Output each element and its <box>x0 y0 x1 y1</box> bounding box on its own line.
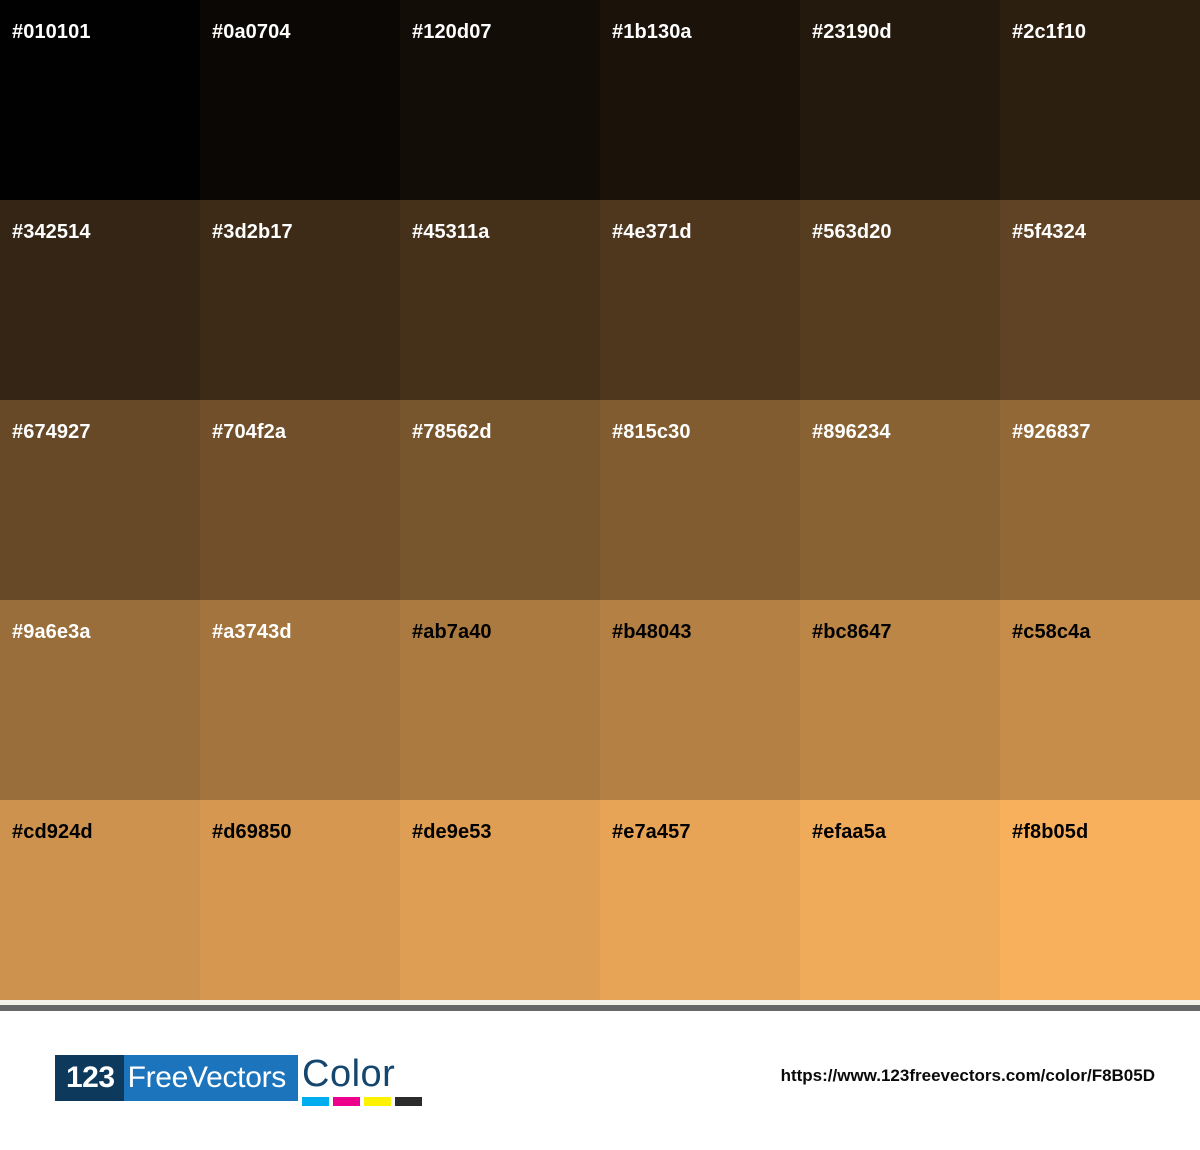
color-swatch-hex-label: #3d2b17 <box>212 222 293 242</box>
color-swatch-hex-label: #efaa5a <box>812 822 886 842</box>
color-swatch[interactable]: #563d20 <box>800 200 1000 400</box>
footer: 123 FreeVectors Color https://www.123fre… <box>0 1011 1200 1150</box>
color-swatch[interactable]: #704f2a <box>200 400 400 600</box>
color-swatch-hex-label: #1b130a <box>612 22 692 42</box>
color-swatch-hex-label: #23190d <box>812 22 892 42</box>
color-swatch-hex-label: #bc8647 <box>812 622 892 642</box>
color-swatch-hex-label: #0a0704 <box>212 22 291 42</box>
color-palette-page: #010101#0a0704#120d07#1b130a#23190d#2c1f… <box>0 0 1200 1150</box>
color-swatch[interactable]: #9a6e3a <box>0 600 200 800</box>
color-swatch[interactable]: #de9e53 <box>400 800 600 1000</box>
color-swatch-hex-label: #9a6e3a <box>12 622 91 642</box>
color-swatch-hex-label: #2c1f10 <box>1012 22 1086 42</box>
color-swatch[interactable]: #2c1f10 <box>1000 0 1200 200</box>
color-swatch-hex-label: #120d07 <box>412 22 492 42</box>
color-swatch[interactable]: #bc8647 <box>800 600 1000 800</box>
footer-url-text[interactable]: https://www.123freevectors.com/color/F8B… <box>781 1066 1155 1086</box>
color-swatch[interactable]: #ab7a40 <box>400 600 600 800</box>
color-swatch-hex-label: #704f2a <box>212 422 286 442</box>
color-swatch-hex-label: #010101 <box>12 22 91 42</box>
color-swatch-hex-label: #815c30 <box>612 422 691 442</box>
swatch-grid: #010101#0a0704#120d07#1b130a#23190d#2c1f… <box>0 0 1200 1000</box>
color-swatch-hex-label: #563d20 <box>812 222 892 242</box>
color-swatch[interactable]: #674927 <box>0 400 200 600</box>
color-swatch[interactable]: #0a0704 <box>200 0 400 200</box>
color-swatch-hex-label: #ab7a40 <box>412 622 492 642</box>
color-swatch[interactable]: #f8b05d <box>1000 800 1200 1000</box>
color-swatch-hex-label: #de9e53 <box>412 822 492 842</box>
color-swatch-hex-label: #5f4324 <box>1012 222 1086 242</box>
color-swatch[interactable]: #010101 <box>0 0 200 200</box>
color-swatch[interactable]: #4e371d <box>600 200 800 400</box>
logo-color-group: Color <box>302 1055 422 1106</box>
color-swatch-hex-label: #cd924d <box>12 822 93 842</box>
color-swatch[interactable]: #d69850 <box>200 800 400 1000</box>
color-swatch[interactable]: #b48043 <box>600 600 800 800</box>
logo-suffix-text: Color <box>302 1055 395 1093</box>
cmyk-color-bars <box>302 1097 422 1106</box>
magenta-bar <box>333 1097 360 1106</box>
color-swatch[interactable]: #5f4324 <box>1000 200 1200 400</box>
black-bar <box>395 1097 422 1106</box>
color-swatch[interactable]: #120d07 <box>400 0 600 200</box>
color-swatch-hex-label: #e7a457 <box>612 822 691 842</box>
color-swatch-hex-label: #926837 <box>1012 422 1091 442</box>
color-swatch-hex-label: #45311a <box>412 222 489 242</box>
yellow-bar <box>364 1097 391 1106</box>
logo-word-text: FreeVectors <box>124 1055 298 1101</box>
color-swatch-hex-label: #a3743d <box>212 622 292 642</box>
color-swatch[interactable]: #efaa5a <box>800 800 1000 1000</box>
color-swatch[interactable]: #815c30 <box>600 400 800 600</box>
logo-number-text: 123 <box>55 1055 124 1101</box>
color-swatch[interactable]: #896234 <box>800 400 1000 600</box>
logo-plate: 123 FreeVectors <box>55 1055 298 1101</box>
color-swatch[interactable]: #23190d <box>800 0 1000 200</box>
color-swatch[interactable]: #cd924d <box>0 800 200 1000</box>
color-swatch[interactable]: #926837 <box>1000 400 1200 600</box>
color-swatch-hex-label: #f8b05d <box>1012 822 1088 842</box>
cyan-bar <box>302 1097 329 1106</box>
color-swatch-hex-label: #674927 <box>12 422 91 442</box>
color-swatch[interactable]: #45311a <box>400 200 600 400</box>
color-swatch[interactable]: #78562d <box>400 400 600 600</box>
color-swatch-hex-label: #896234 <box>812 422 891 442</box>
color-swatch[interactable]: #a3743d <box>200 600 400 800</box>
brand-logo[interactable]: 123 FreeVectors Color <box>55 1055 422 1106</box>
color-swatch-hex-label: #c58c4a <box>1012 622 1091 642</box>
color-swatch-hex-label: #d69850 <box>212 822 292 842</box>
color-swatch[interactable]: #e7a457 <box>600 800 800 1000</box>
color-swatch[interactable]: #c58c4a <box>1000 600 1200 800</box>
color-swatch[interactable]: #3d2b17 <box>200 200 400 400</box>
color-swatch-hex-label: #78562d <box>412 422 492 442</box>
color-swatch[interactable]: #342514 <box>0 200 200 400</box>
color-swatch[interactable]: #1b130a <box>600 0 800 200</box>
color-swatch-hex-label: #b48043 <box>612 622 692 642</box>
color-swatch-hex-label: #342514 <box>12 222 91 242</box>
color-swatch-hex-label: #4e371d <box>612 222 692 242</box>
